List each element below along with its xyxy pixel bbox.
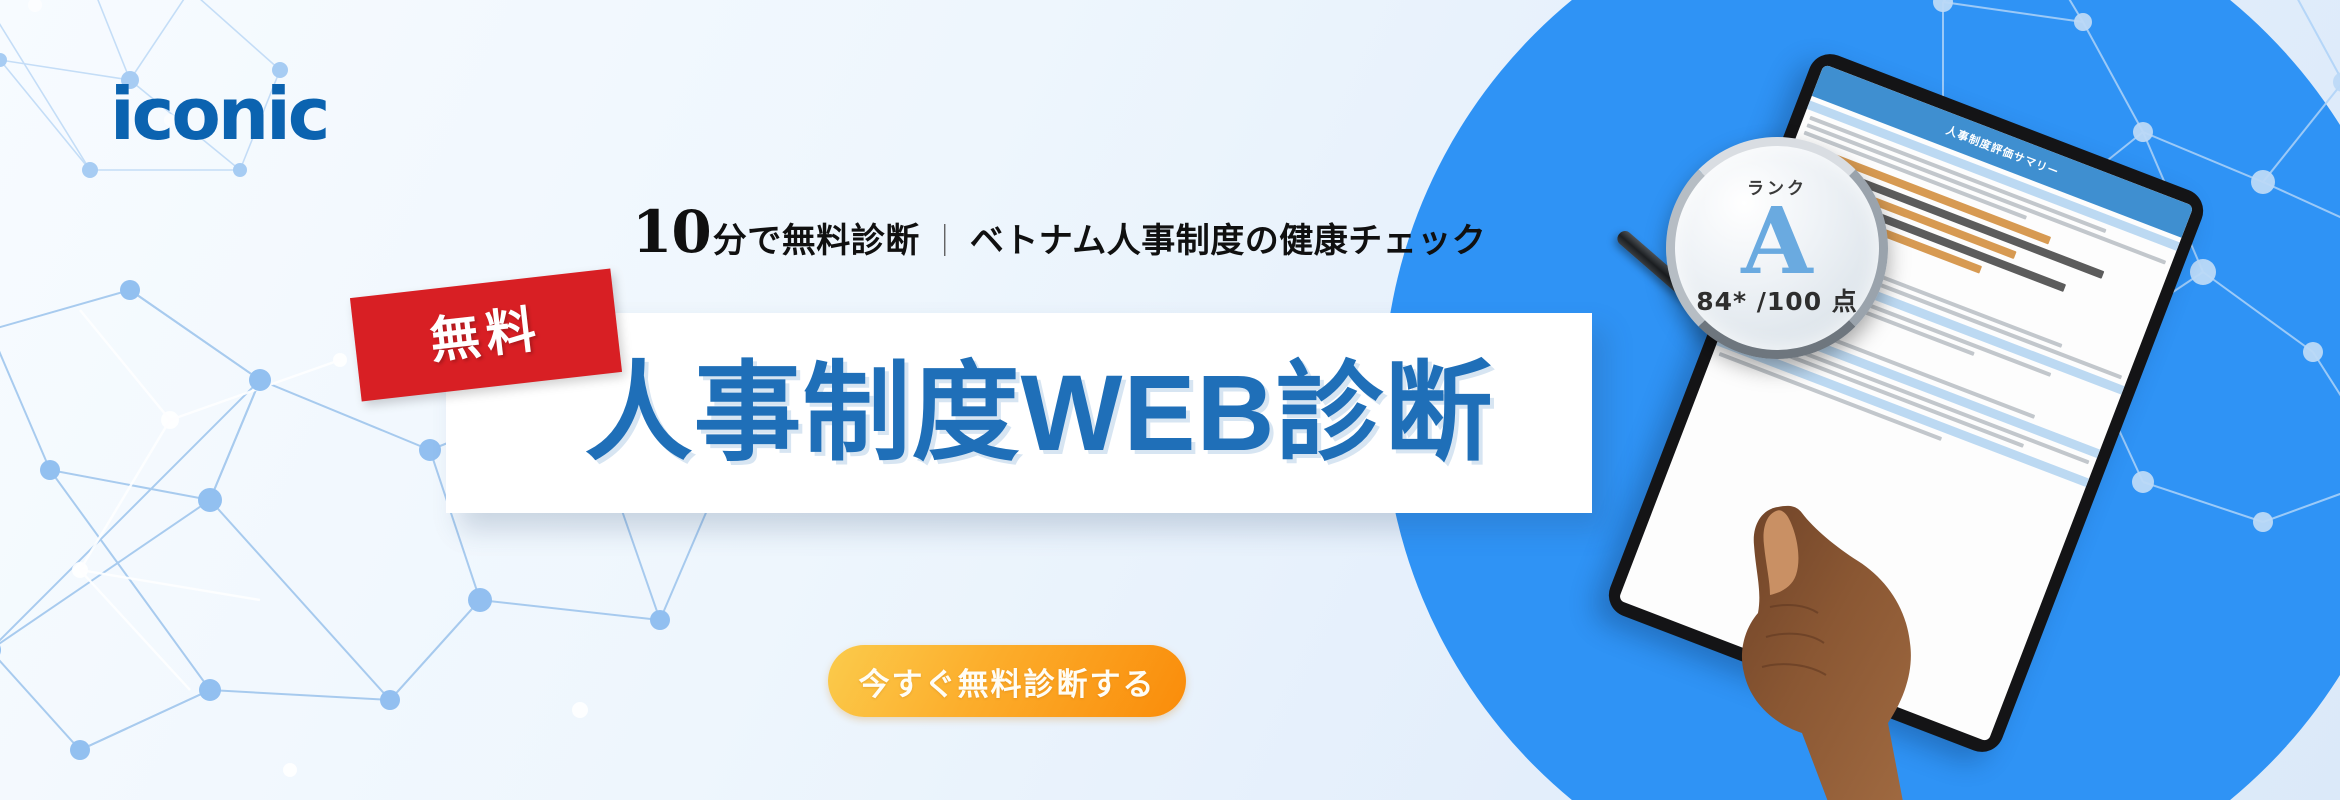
rank-score: 84* /100 点: [1696, 282, 1858, 318]
iconic-logo[interactable]: iconic: [110, 78, 327, 150]
rank-grade: A: [1741, 199, 1812, 284]
magnifier-lens: ランク A 84* /100 点: [1666, 137, 1888, 359]
free-badge-label: 無料: [428, 304, 545, 366]
subtitle-separator: ｜: [929, 225, 961, 257]
start-diagnosis-button[interactable]: 今すぐ無料診断する: [828, 645, 1186, 717]
subtitle-unit: 分で無料診断: [713, 224, 920, 258]
subtitle-number: 10: [632, 203, 711, 261]
hand-holding-tablet: [1718, 487, 1968, 800]
magnifier: ランク A 84* /100 点: [1666, 137, 1888, 359]
subtitle-tagline: ベトナム人事制度の健康チェック: [970, 224, 1486, 258]
tablet-illustration: 人事制度評価サマリー: [1660, 95, 2300, 800]
hero-banner: iconic 10 分で無料診断 ｜ ベトナム人事制度の健康チェック 人事制度W…: [0, 0, 2340, 800]
hero-subtitle: 10 分で無料診断 ｜ ベトナム人事制度の健康チェック: [632, 203, 1486, 265]
